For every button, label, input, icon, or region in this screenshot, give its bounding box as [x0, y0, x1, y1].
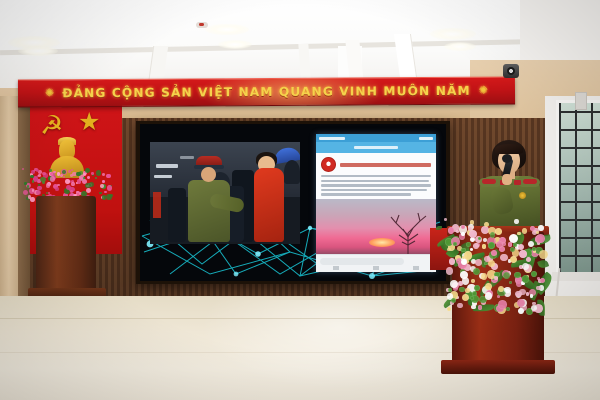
photo-crowd-figure [284, 160, 300, 184]
speaker-fringe [495, 144, 523, 154]
post-text-line [321, 189, 427, 191]
status-left-icons [319, 137, 345, 140]
flower-blossom [495, 228, 502, 235]
flower-blossom [42, 181, 45, 184]
flower-blossom [27, 185, 30, 188]
flower-blossom [68, 170, 70, 172]
lotus-ornament-right-icon: ✺ [479, 85, 488, 96]
post-text-line [321, 184, 431, 186]
post-text-line [321, 180, 429, 182]
flower-blossom [465, 288, 469, 292]
flower-blossom [485, 292, 492, 299]
flower-blossom [488, 260, 495, 267]
bare-tree-silhouette-icon [386, 211, 430, 255]
post-text-line [321, 193, 411, 195]
flower-blossom [500, 254, 508, 262]
flower-blossom [22, 168, 24, 170]
hammer-sickle-icon: ☭ [40, 112, 70, 138]
wall-speaker-icon [503, 64, 519, 78]
flower-blossom [63, 176, 66, 179]
recents-icon[interactable] [413, 266, 419, 270]
flower-blossom [96, 170, 101, 175]
flower-blossom [536, 234, 545, 243]
flower-blossom [473, 243, 479, 249]
flower-blossom [102, 180, 105, 183]
flower-blossom [102, 173, 105, 176]
flower-blossom [498, 286, 504, 292]
flower-blossom [506, 307, 510, 311]
photo-red-banner [153, 192, 161, 218]
phone-status-bar [316, 134, 436, 142]
flower-blossom [518, 244, 524, 250]
phone-screenshot-mock [316, 134, 436, 272]
flower-blossom [53, 171, 56, 174]
photo-police-officer [188, 156, 230, 242]
flower-blossom [446, 267, 453, 274]
flower-blossom [522, 228, 527, 233]
flower-blossom [99, 192, 101, 194]
flower-blossom [474, 285, 480, 291]
avatar[interactable] [321, 157, 336, 172]
flower-blossom [509, 234, 518, 243]
flower-blossom [449, 258, 455, 264]
ceiling-light [18, 46, 58, 56]
ceiling-light [444, 42, 476, 51]
post-sunset-image [316, 199, 436, 255]
flower-blossom [71, 169, 73, 171]
flower-blossom [498, 300, 507, 309]
flower-blossom [76, 172, 80, 176]
podium-base [441, 360, 555, 374]
flower-blossom [95, 177, 97, 179]
flower-blossom [491, 250, 497, 256]
window [556, 100, 600, 278]
flower-blossom [509, 281, 512, 284]
banner-text: ĐẢNG CỘNG SẢN VIỆT NAM QUANG VINH MUÔN N… [62, 84, 471, 100]
flower-blossom [87, 176, 90, 179]
phone-bottom-bar [316, 254, 436, 272]
flower-blossom [447, 248, 451, 252]
flower-blossom [36, 190, 41, 195]
flower-blossom [30, 175, 33, 178]
officer-uniform [188, 180, 230, 242]
post-header [321, 157, 431, 172]
photo-ceiling-lamp [154, 175, 172, 178]
officer-face [201, 167, 216, 182]
post-text-line [321, 175, 431, 177]
flower-blossom [65, 179, 70, 184]
flower-blossom [42, 172, 46, 176]
flower-blossom [55, 187, 59, 191]
flower-blossom [531, 271, 537, 277]
flower-blossom [453, 242, 457, 246]
flower-blossom [451, 298, 456, 303]
smoke-detector-icon [196, 22, 208, 28]
status-battery-icon [419, 137, 433, 140]
app-bar-title [354, 146, 398, 149]
flower-blossom [46, 183, 51, 188]
back-icon[interactable] [333, 266, 339, 270]
flower-blossom [66, 185, 71, 190]
flower-blossom [85, 183, 91, 189]
flower-blossom [518, 308, 524, 314]
flower-blossom [460, 271, 468, 279]
flower-blossom [464, 251, 473, 260]
flower-blossom [502, 242, 506, 246]
flower-blossom [104, 191, 106, 193]
slogan-banner: ✺ ĐẢNG CỘNG SẢN VIỆT NAM QUANG VINH MUÔN… [18, 76, 515, 107]
flower-blossom [471, 279, 475, 283]
phone-app-bar[interactable] [316, 142, 436, 153]
flower-blossom [490, 232, 495, 237]
projection-screen[interactable] [140, 124, 446, 281]
flower-leaf [537, 258, 549, 269]
flower-blossom [514, 272, 521, 279]
flower-blossom [444, 218, 447, 221]
photo-ceiling-lamp [156, 164, 178, 168]
flower-blossom [485, 283, 492, 290]
flower-blossom [503, 272, 510, 279]
flower-blossom [514, 219, 519, 224]
flower-blossom [531, 305, 537, 311]
flower-blossom [107, 185, 112, 190]
ceiling-light [218, 40, 252, 49]
flower-blossom [50, 176, 56, 182]
flower-blossom [515, 291, 521, 297]
home-icon[interactable] [373, 266, 379, 270]
post-author-name [340, 163, 431, 167]
flower-blossom [38, 184, 40, 186]
flower-blossom [448, 227, 455, 234]
flower-blossom [447, 307, 452, 312]
flower-blossom [466, 242, 471, 247]
flower-leaf [436, 226, 442, 230]
photo-crowd-figure [168, 188, 186, 242]
microphone-head [502, 154, 512, 163]
phone-nav-bar[interactable] [316, 264, 436, 272]
speaker-epaulette [523, 179, 537, 184]
flower-blossom [456, 230, 459, 233]
flower-blossom [106, 174, 110, 178]
speaker-collar-tab [514, 180, 521, 185]
flower-blossom [37, 186, 42, 191]
flower-blossom [83, 177, 85, 179]
ceiling-light [205, 24, 249, 35]
bust-pedestal [36, 196, 96, 300]
flower-blossom [484, 222, 489, 227]
speaker-epaulette [482, 179, 496, 184]
speaker-badge [519, 192, 526, 199]
flower-blossom [459, 287, 464, 292]
flower-blossom [458, 281, 463, 286]
lotus-ornament-left-icon: ✺ [45, 88, 54, 99]
flower-blossom [71, 182, 75, 186]
flower-blossom [488, 242, 495, 249]
conference-hall-scene: ☭ ★ ✺ ĐẢNG CỘNG SẢN VIỆT NAM QUANG VINH … [0, 0, 600, 400]
flower-blossom [30, 197, 35, 202]
flower-blossom [526, 292, 529, 295]
police-officer-photo [150, 142, 300, 244]
flower-blossom [24, 182, 27, 185]
flower-blossom [478, 305, 483, 310]
flower-blossom [508, 242, 512, 246]
flower-blossom [457, 303, 462, 308]
ceiling-light [430, 28, 476, 40]
flower-blossom [536, 286, 540, 290]
flower-blossom [539, 250, 548, 259]
flower-blossom [519, 250, 527, 258]
window-security-grille [559, 103, 600, 275]
flower-blossom [28, 195, 32, 199]
flower-arrangement [430, 212, 560, 320]
flower-blossom [482, 244, 487, 249]
flower-blossom [522, 275, 529, 282]
flower-blossom [85, 168, 90, 173]
wall-junction-box [575, 92, 587, 110]
speaker-hand [502, 174, 512, 185]
gold-star-icon: ★ [78, 110, 104, 136]
photo-girl-red-jacket [254, 168, 284, 242]
flower-blossom [481, 273, 487, 279]
flower-blossom [469, 230, 477, 238]
flower-blossom [86, 188, 91, 193]
flower-blossom [77, 179, 82, 184]
flower-blossom [484, 262, 488, 266]
flower-blossom [91, 172, 94, 175]
flower-blossom [532, 247, 536, 251]
